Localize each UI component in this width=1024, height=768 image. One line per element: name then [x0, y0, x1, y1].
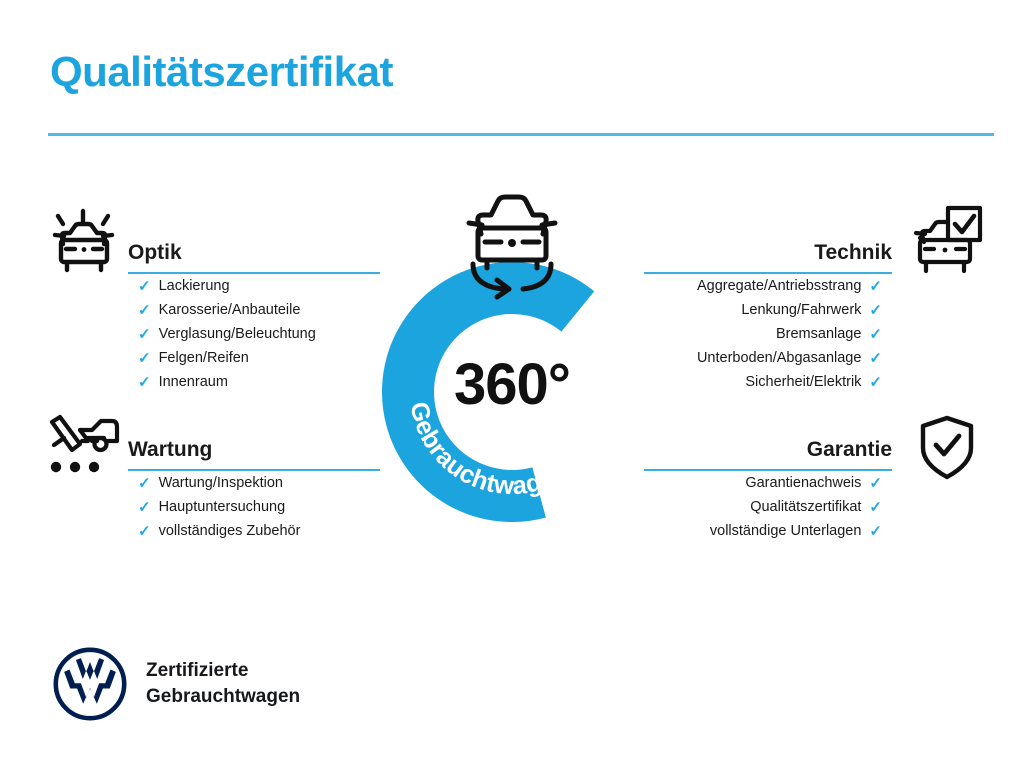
section-wartung: Wartung ✓Wartung/Inspektion ✓Hauptunters…: [128, 425, 380, 543]
footer-line-2: Gebrauchtwagen: [146, 684, 300, 710]
list-item-label: Lackierung: [159, 274, 230, 298]
list-item: ✓vollständiges Zubehör: [138, 519, 380, 543]
section-garantie: Garantie Garantienachweis✓ Qualitätszert…: [644, 425, 892, 543]
list-item: Bremsanlage✓: [644, 322, 882, 346]
list-item-label: Innenraum: [159, 370, 228, 394]
list-item-label: Lenkung/Fahrwerk: [741, 298, 861, 322]
section-wartung-header: Wartung: [128, 425, 380, 471]
list-item-label: Bremsanlage: [776, 322, 861, 346]
section-wartung-divider: [128, 469, 380, 471]
list-item: ✓Verglasung/Beleuchtung: [138, 322, 380, 346]
list-item: vollständige Unterlagen✓: [644, 519, 882, 543]
check-icon: ✓: [138, 500, 151, 515]
list-item-label: Verglasung/Beleuchtung: [159, 322, 316, 346]
section-optik-title: Optik: [128, 241, 182, 265]
list-item: ✓Innenraum: [138, 370, 380, 394]
pen-car-service-icon: [42, 414, 126, 485]
list-item: ✓Lackierung: [138, 274, 380, 298]
vw-logo-icon: [52, 646, 128, 722]
list-item: Qualitätszertifikat✓: [644, 495, 882, 519]
section-garantie-list: Garantienachweis✓ Qualitätszertifikat✓ v…: [644, 471, 892, 543]
check-icon: ✓: [869, 476, 882, 491]
list-item-label: Unterboden/Abgasanlage: [697, 346, 861, 370]
check-icon: ✓: [138, 476, 151, 491]
list-item-label: Felgen/Reifen: [159, 346, 249, 370]
list-item: Unterboden/Abgasanlage✓: [644, 346, 882, 370]
list-item-label: Aggregate/Antriebsstrang: [697, 274, 861, 298]
check-icon: ✓: [869, 327, 882, 342]
section-garantie-header: Garantie: [644, 425, 892, 471]
section-technik-title: Technik: [814, 241, 892, 265]
footer-text: Zertifizierte Gebrauchtwagen: [146, 658, 300, 710]
list-item-label: Qualitätszertifikat: [750, 495, 861, 519]
list-item-label: vollständige Unterlagen: [710, 519, 862, 543]
section-optik: Optik ✓Lackierung ✓Karosserie/Anbauteile…: [128, 228, 380, 394]
list-item-label: Sicherheit/Elektrik: [745, 370, 861, 394]
list-item: ✓Felgen/Reifen: [138, 346, 380, 370]
list-item: Sicherheit/Elektrik✓: [644, 370, 882, 394]
check-icon: ✓: [138, 524, 151, 539]
section-technik-divider: [644, 272, 892, 274]
360-check-badge: Gebrauchtwagen-Check 360°: [378, 258, 646, 526]
section-technik: Technik Aggregate/Antriebsstrang✓ Lenkun…: [644, 228, 892, 394]
list-item: Lenkung/Fahrwerk✓: [644, 298, 882, 322]
footer-line-1: Zertifizierte: [146, 658, 300, 684]
section-garantie-title: Garantie: [807, 438, 892, 462]
page-title: Qualitätszertifikat: [50, 48, 393, 96]
section-wartung-title: Wartung: [128, 438, 212, 462]
check-icon: ✓: [869, 303, 882, 318]
section-technik-header: Technik: [644, 228, 892, 274]
shield-check-icon: [916, 414, 978, 487]
list-item-label: Wartung/Inspektion: [159, 471, 283, 495]
list-item: ✓Karosserie/Anbauteile: [138, 298, 380, 322]
list-item-label: Garantienachweis: [745, 471, 861, 495]
check-icon: ✓: [869, 375, 882, 390]
section-technik-list: Aggregate/Antriebsstrang✓ Lenkung/Fahrwe…: [644, 274, 892, 394]
certificate-page: Qualitätszertifikat Optik ✓Lackierung ✓K…: [0, 0, 1024, 768]
list-item-label: Hauptuntersuchung: [159, 495, 286, 519]
list-item: ✓Hauptuntersuchung: [138, 495, 380, 519]
list-item-label: Karosserie/Anbauteile: [159, 298, 301, 322]
section-optik-list: ✓Lackierung ✓Karosserie/Anbauteile ✓Verg…: [128, 274, 380, 394]
check-icon: ✓: [138, 375, 151, 390]
title-divider: [48, 133, 994, 136]
check-icon: ✓: [869, 524, 882, 539]
list-item-label: vollständiges Zubehör: [159, 519, 301, 543]
list-item: Garantienachweis✓: [644, 471, 882, 495]
check-icon: ✓: [869, 500, 882, 515]
check-icon: ✓: [138, 303, 151, 318]
footer-branding: Zertifizierte Gebrauchtwagen: [52, 646, 300, 722]
car-checkbox-icon: [906, 204, 986, 281]
section-wartung-list: ✓Wartung/Inspektion ✓Hauptuntersuchung ✓…: [128, 471, 380, 543]
check-icon: ✓: [138, 327, 151, 342]
check-icon: ✓: [869, 351, 882, 366]
check-icon: ✓: [869, 279, 882, 294]
check-icon: ✓: [138, 279, 151, 294]
section-optik-header: Optik: [128, 228, 380, 274]
car-shine-icon: [46, 204, 122, 281]
car-rotation-icon: [451, 190, 573, 300]
check-icon: ✓: [138, 351, 151, 366]
list-item: ✓Wartung/Inspektion: [138, 471, 380, 495]
section-garantie-divider: [644, 469, 892, 471]
section-optik-divider: [128, 272, 380, 274]
list-item: Aggregate/Antriebsstrang✓: [644, 274, 882, 298]
